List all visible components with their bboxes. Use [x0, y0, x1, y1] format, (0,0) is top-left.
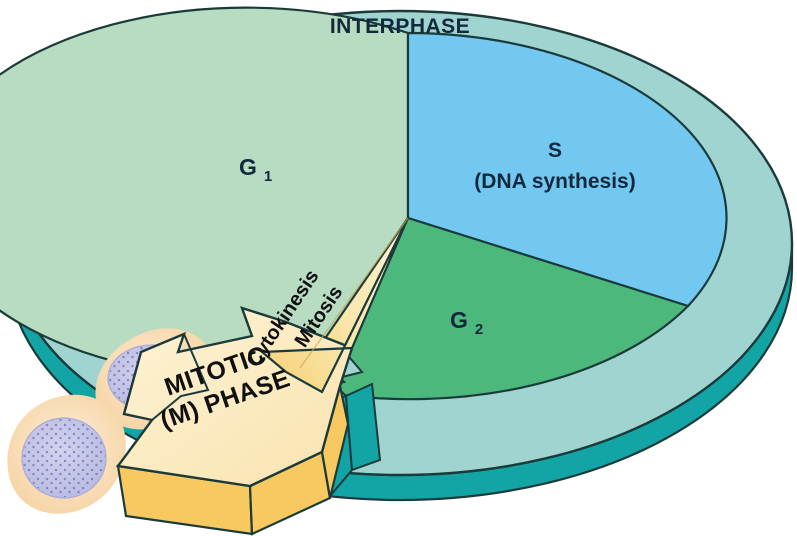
label-g1-text: G — [239, 154, 257, 180]
label-interphase: INTERPHASE — [330, 15, 470, 38]
cell-cycle-figure: INTERPHASE G 1 S (DNA synthesis) G 2 Cyt… — [0, 0, 797, 536]
label-g1-subscript: 1 — [264, 168, 272, 185]
cell-cycle-diagram: INTERPHASE G 1 S (DNA synthesis) G 2 Cyt… — [0, 0, 797, 536]
label-g2-text: G — [450, 307, 468, 333]
daughter-cell-lower — [7, 395, 125, 514]
label-s-detail: (DNA synthesis) — [474, 170, 635, 193]
label-s-text: S — [548, 139, 562, 162]
label-g2-subscript: 2 — [475, 321, 483, 338]
